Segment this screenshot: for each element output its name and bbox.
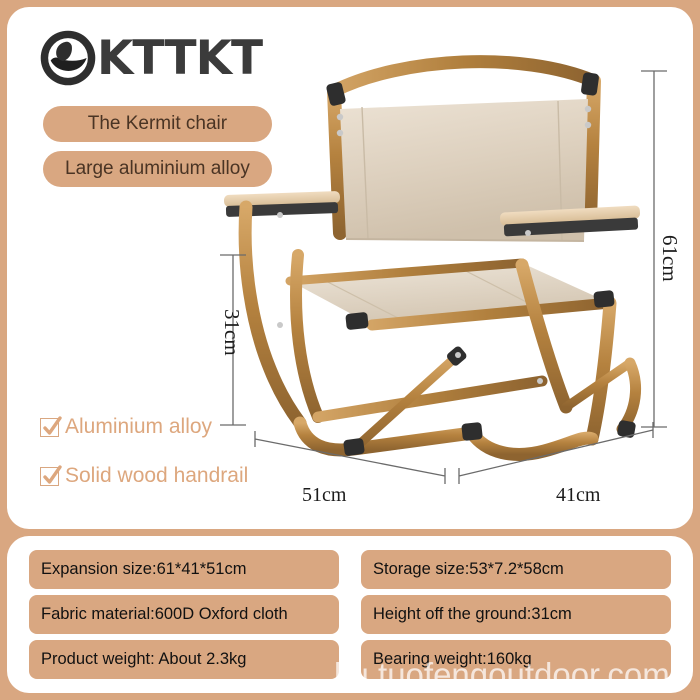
dimension-label-seat-height: 31cm bbox=[219, 309, 244, 356]
checkbox-checked-icon bbox=[40, 418, 59, 437]
folding-chair-illustration bbox=[222, 25, 692, 525]
specifications-grid: Expansion size:61*41*51cm Storage size:5… bbox=[7, 536, 693, 693]
product-showcase-card: KTTKT The Kermit chair Large aluminium a… bbox=[7, 7, 693, 529]
product-image bbox=[222, 25, 692, 525]
feature-item-solid-wood-handrail: Solid wood handrail bbox=[40, 464, 248, 488]
dimension-label-depth: 41cm bbox=[556, 484, 600, 507]
feature-item-aluminium-alloy: Aluminium alloy bbox=[40, 415, 248, 439]
spec-product-weight: Product weight: About 2.3kg bbox=[29, 640, 339, 679]
chair-frame-group bbox=[245, 207, 635, 454]
spec-expansion-size: Expansion size:61*41*51cm bbox=[29, 550, 339, 589]
spec-fabric-material: Fabric material:600D Oxford cloth bbox=[29, 595, 339, 634]
feature-label: Solid wood handrail bbox=[65, 464, 248, 488]
feature-label: Aluminium alloy bbox=[65, 415, 212, 439]
product-infographic: KTTKT The Kermit chair Large aluminium a… bbox=[0, 0, 700, 700]
chair-seat-group bbox=[290, 263, 610, 325]
leaf-circle-logo-icon bbox=[37, 27, 99, 89]
spec-storage-size: Storage size:53*7.2*58cm bbox=[361, 550, 671, 589]
checkbox-checked-icon bbox=[40, 467, 59, 486]
specifications-card: Expansion size:61*41*51cm Storage size:5… bbox=[7, 536, 693, 693]
spec-bearing-weight: Bearing weight:160kg bbox=[361, 640, 671, 679]
spec-height-off-ground: Height off the ground:31cm bbox=[361, 595, 671, 634]
dimension-label-height: 61cm bbox=[657, 235, 682, 282]
dimension-label-width: 51cm bbox=[302, 484, 346, 507]
feature-list: Aluminium alloy Solid wood handrail bbox=[40, 415, 248, 488]
